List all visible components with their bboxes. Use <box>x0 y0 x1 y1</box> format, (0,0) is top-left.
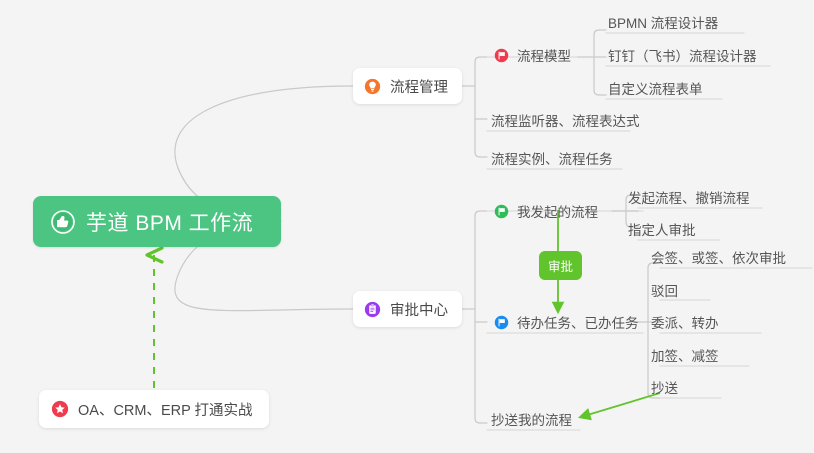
node-label-cc-to-me-process: 抄送我的流程 <box>491 409 572 429</box>
branch-label-process-management: 流程管理 <box>390 76 448 97</box>
node-label-custom-process-form: 自定义流程表单 <box>608 78 703 98</box>
node-label-assignee-approval: 指定人审批 <box>628 219 696 239</box>
node-dingtalk-feishu-designer[interactable]: 钉钉（飞书）流程设计器 <box>606 41 763 69</box>
node-label-process-model: 流程模型 <box>517 45 571 65</box>
node-label-cc: 抄送 <box>651 377 678 397</box>
node-label-process-instance-task: 流程实例、流程任务 <box>491 148 613 168</box>
mindmap-canvas: 芋道 BPM 工作流 流程管理 流程模型 BPMN 流程设计器 钉钉（飞书 <box>0 0 814 453</box>
node-bpmn-designer[interactable]: BPMN 流程设计器 <box>606 8 724 36</box>
node-label-process-listener-expression: 流程监听器、流程表达式 <box>491 110 640 130</box>
node-todo-done-tasks[interactable]: 待办任务、已办任务 <box>492 308 645 336</box>
flag-icon <box>494 315 509 330</box>
root-label: 芋道 BPM 工作流 <box>86 207 253 237</box>
node-start-cancel-process[interactable]: 发起流程、撤销流程 <box>626 183 756 211</box>
node-assignee-approval[interactable]: 指定人审批 <box>626 215 702 243</box>
flag-icon <box>494 204 509 219</box>
node-custom-process-form[interactable]: 自定义流程表单 <box>606 74 709 102</box>
node-label-countersign-orsign-sequential: 会签、或签、依次审批 <box>651 247 786 267</box>
node-process-instance-task[interactable]: 流程实例、流程任务 <box>489 144 619 172</box>
node-cc-to-me-process[interactable]: 抄送我的流程 <box>489 405 578 433</box>
node-add-remove-sign[interactable]: 加签、减签 <box>649 341 725 369</box>
root-node[interactable]: 芋道 BPM 工作流 <box>33 196 281 247</box>
node-label-delegate-transfer: 委派、转办 <box>651 312 719 332</box>
node-label-bpmn-designer: BPMN 流程设计器 <box>608 12 718 32</box>
node-my-initiated-process[interactable]: 我发起的流程 <box>492 197 604 225</box>
node-label-my-initiated-process: 我发起的流程 <box>517 201 598 221</box>
node-countersign-orsign-sequential[interactable]: 会签、或签、依次审批 <box>649 243 792 271</box>
node-label-start-cancel-process: 发起流程、撤销流程 <box>628 187 750 207</box>
lightbulb-icon <box>364 78 381 95</box>
node-process-listener-expression[interactable]: 流程监听器、流程表达式 <box>489 106 646 134</box>
branch-node-approval-center[interactable]: 审批中心 <box>353 291 462 327</box>
node-label-todo-done-tasks: 待办任务、已办任务 <box>517 312 639 332</box>
node-delegate-transfer[interactable]: 委派、转办 <box>649 308 725 336</box>
thumbs-up-icon <box>51 210 75 234</box>
node-cc[interactable]: 抄送 <box>649 373 684 401</box>
node-label-dingtalk-feishu-designer: 钉钉（飞书）流程设计器 <box>608 45 757 65</box>
branch-label-approval-center: 审批中心 <box>390 299 448 320</box>
node-process-model[interactable]: 流程模型 <box>492 41 577 69</box>
star-icon <box>51 400 69 418</box>
clipboard-icon <box>364 301 381 318</box>
callout-label: OA、CRM、ERP 打通实战 <box>78 399 253 420</box>
node-label-reject: 驳回 <box>651 280 678 300</box>
flag-icon <box>494 48 509 63</box>
callout-node-oa-crm-erp[interactable]: OA、CRM、ERP 打通实战 <box>39 390 269 428</box>
annotation-badge-approval: 审批 <box>539 251 582 280</box>
annotation-badge-label: 审批 <box>548 256 573 275</box>
node-label-add-remove-sign: 加签、减签 <box>651 345 719 365</box>
node-reject[interactable]: 驳回 <box>649 276 684 304</box>
branch-node-process-management[interactable]: 流程管理 <box>353 68 462 104</box>
